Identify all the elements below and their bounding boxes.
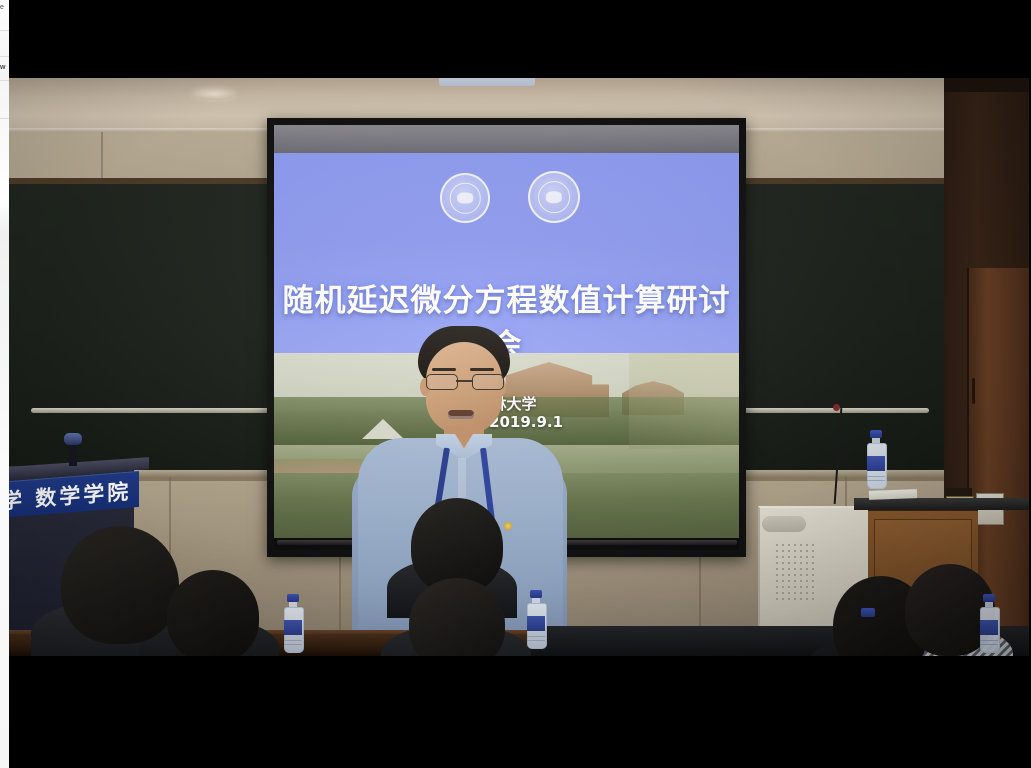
- podium-microphone-icon: [64, 433, 82, 445]
- speaker-mouth: [448, 410, 474, 419]
- bg-rule: [0, 118, 9, 119]
- lapel-pin-icon: [504, 522, 512, 530]
- bg-rule: [0, 80, 9, 81]
- university-seal-left-icon: [440, 173, 490, 223]
- audience-head: [167, 570, 259, 656]
- screen-top-bar: [274, 125, 739, 153]
- bottle-cap: [857, 608, 873, 628]
- lectern-surface: [854, 498, 1031, 510]
- speaker-eyebrow: [470, 368, 494, 371]
- photo-viewer: e w: [0, 0, 1031, 768]
- background-page-sliver[interactable]: e w: [0, 0, 9, 768]
- audience-head: [61, 526, 179, 644]
- ceiling-downlight-icon: [192, 88, 236, 100]
- eyeglasses-icon: [426, 374, 504, 388]
- water-bottle: [866, 430, 886, 488]
- speaker-grille-icon: [774, 542, 818, 604]
- bg-rule: [0, 56, 9, 57]
- speaker-eyebrow: [432, 368, 456, 371]
- letterbox-bottom: [9, 656, 1031, 768]
- gooseneck-microphone-icon: [833, 404, 840, 411]
- water-bottle: [283, 594, 303, 652]
- ceiling-light-fixture: [439, 78, 535, 86]
- photo-content: 随机延迟微分方程数值计算研讨会 吉林大学 .31~2019.9.1: [9, 78, 1031, 656]
- bg-text-fragment-2: w: [0, 64, 9, 71]
- bg-text-fragment-1: e: [0, 4, 9, 11]
- water-bottle: [526, 590, 546, 648]
- door-handle[interactable]: [972, 378, 975, 404]
- console-slot: [762, 516, 806, 532]
- bg-rule: [0, 30, 9, 31]
- water-bottle: [979, 594, 999, 652]
- door-frame-top: [944, 78, 1031, 92]
- letterbox-top: [9, 0, 1031, 78]
- papers-on-lectern: [869, 489, 917, 500]
- university-seal-right-icon: [528, 171, 580, 223]
